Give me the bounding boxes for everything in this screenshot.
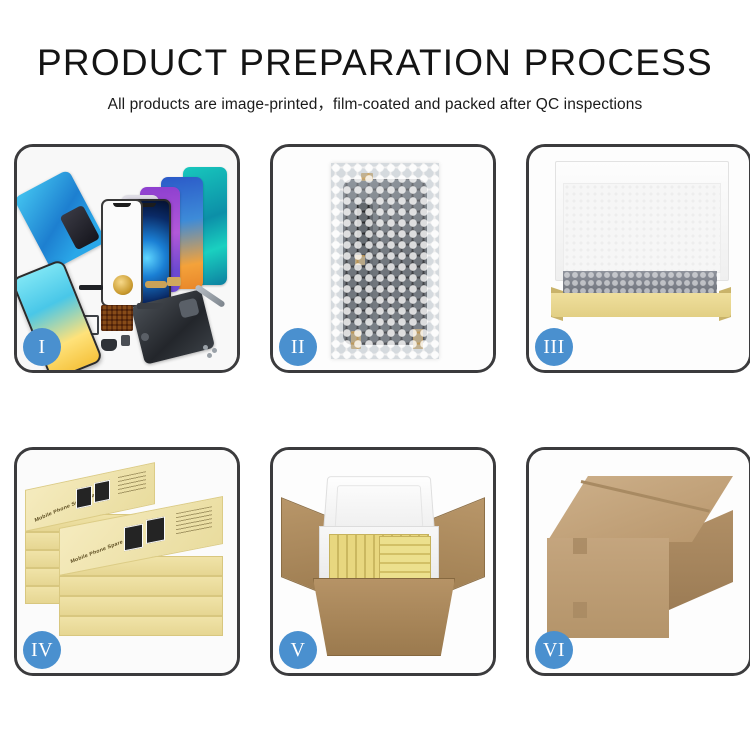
gold-coil-part: [113, 275, 133, 295]
process-step-panel-5: V: [270, 447, 496, 676]
foam-sheet: [563, 183, 721, 273]
step-badge-4: IV: [23, 631, 61, 669]
page-subtitle: All products are image-printed，film-coat…: [0, 84, 750, 115]
step-badge-2: II: [279, 328, 317, 366]
process-step-panel-6: VI: [526, 447, 750, 676]
page-header: PRODUCT PREPARATION PROCESS All products…: [0, 0, 750, 115]
step-badge-5: V: [279, 631, 317, 669]
bubble-wrap-bag: [331, 163, 439, 359]
box-base: [551, 293, 731, 317]
process-step-panel-4: Mobile Phone Spare Parts Mobile Phone Sp…: [14, 447, 240, 676]
process-step-panel-2: II: [270, 144, 496, 373]
page-title: PRODUCT PREPARATION PROCESS: [0, 0, 750, 84]
bubble-wrapped-contents: [563, 271, 717, 295]
box-stack: Mobile Phone Spare Parts Mobile Phone Sp…: [23, 468, 237, 660]
carton-front-face: [547, 538, 669, 638]
process-step-panel-1: I: [14, 144, 240, 373]
process-steps-grid: I II III: [14, 144, 740, 676]
carton-tape-upper: [573, 538, 587, 554]
chip-array: [101, 305, 133, 331]
process-step-panel-3: III: [526, 144, 750, 373]
step-badge-6: VI: [535, 631, 573, 669]
carton-tape-lower: [573, 602, 587, 618]
yellow-boxes-inside-second: [379, 536, 431, 584]
screws-group: [203, 345, 223, 357]
carton-body: [313, 578, 455, 656]
step-badge-3: III: [535, 328, 573, 366]
step-badge-1: I: [23, 328, 61, 366]
